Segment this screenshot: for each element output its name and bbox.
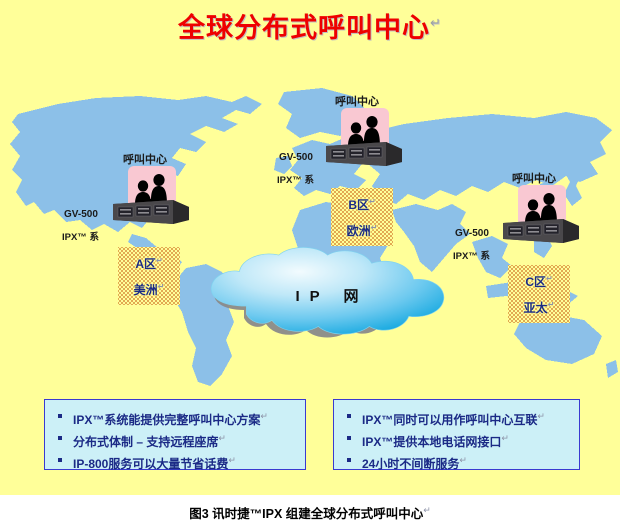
list-item: IP-800服务可以大量节省话费↵ [49,451,301,473]
list-item: IPX™提供本地电话网接口↵ [338,429,575,451]
site-c-region-code: C区↵ [525,273,552,290]
site-c-region-box: C区↵ 亚太↵ [508,265,570,323]
features-right-box: IPX™同时可以用作呼叫中心互联↵ IPX™提供本地电话网接口↵ 24小时不间断… [333,399,580,470]
site-c-region-name: 亚太↵ [524,299,555,316]
site-c-device-label: GV-500 [455,228,489,239]
list-item: 24小时不间断服务↵ [338,451,575,473]
paragraph-mark-icon: ↵ [423,505,431,515]
diagram-canvas: 全球分布式呼叫中心↵ [0,0,620,495]
site-c-system-label: IPX™ 系 [453,248,490,262]
list-item: IPX™同时可以用作呼叫中心互联↵ [338,407,575,429]
list-item: 分布式体制 – 支持远程座席↵ [49,429,301,451]
list-item: IPX™系统能提供完整呼叫中心方案↵ [49,407,301,429]
site-c: 呼叫中心 [0,0,620,340]
features-left-list: IPX™系统能提供完整呼叫中心方案↵ 分布式体制 – 支持远程座席↵ IP-80… [49,407,301,473]
figure-root: 全球分布式呼叫中心↵ [0,0,620,527]
figure-caption-text: 图3 讯时捷™IPX 组建全球分布式呼叫中心 [189,507,423,521]
site-c-rack-server-icon [501,217,581,245]
features-right-list: IPX™同时可以用作呼叫中心互联↵ IPX™提供本地电话网接口↵ 24小时不间断… [338,407,575,473]
site-c-call-center-label: 呼叫中心 [512,170,556,186]
figure-caption: 图3 讯时捷™IPX 组建全球分布式呼叫中心↵ [0,503,620,522]
features-left-box: IPX™系统能提供完整呼叫中心方案↵ 分布式体制 – 支持远程座席↵ IP-80… [44,399,306,470]
